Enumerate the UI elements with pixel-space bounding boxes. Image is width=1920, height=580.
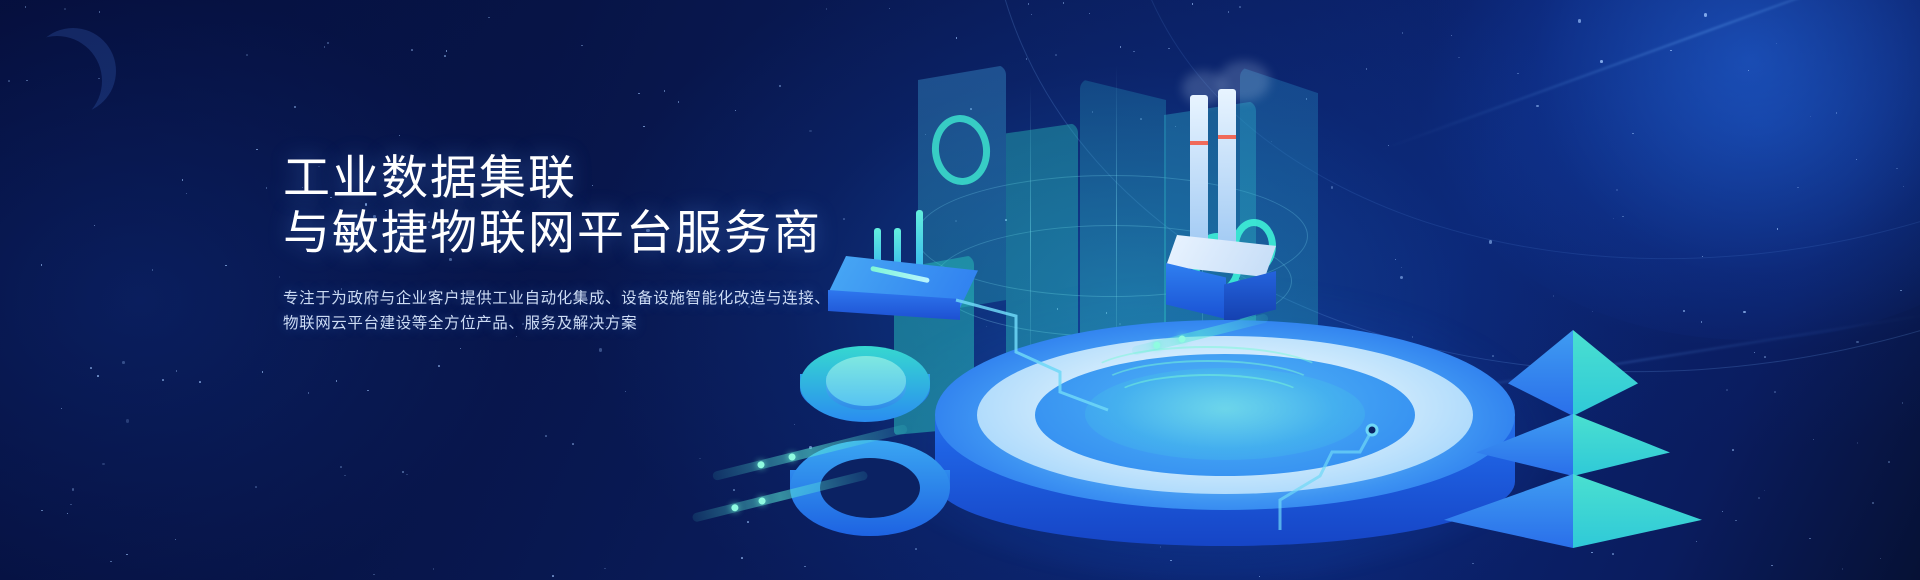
network-cable [760,0,1920,580]
hero-banner: 工业数据集联 与敏捷物联网平台服务商 专注于为政府与企业客户提供工业自动化集成、… [0,0,1920,580]
headline-line-1: 工业数据集联 [283,151,577,204]
crescent-moon-icon [30,28,116,114]
iot-illustration [760,0,1920,580]
